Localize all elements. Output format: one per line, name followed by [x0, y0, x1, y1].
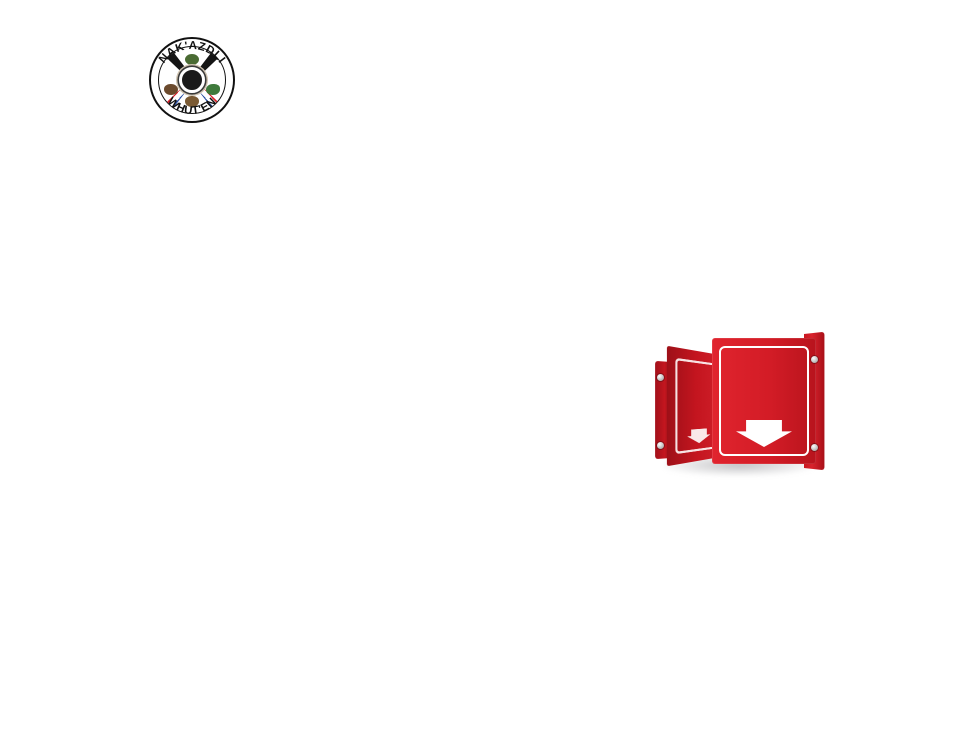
logo-bottom-arc-label: WHUT'EN	[165, 95, 219, 117]
list-item	[68, 412, 668, 443]
sign-screw-top-right	[811, 356, 818, 363]
emergency-evacuation-map-sign-image	[654, 334, 826, 476]
list-item	[68, 600, 668, 631]
list-item	[68, 475, 668, 506]
sign-screw-bottom-right	[811, 444, 818, 451]
nakazdli-whuten-logo: NAK'AZDLI WHUT'EN	[149, 37, 235, 123]
letterhead-header: NAK'AZDLI WHUT'EN	[0, 0, 960, 150]
list-item	[68, 537, 668, 568]
list-item	[68, 444, 668, 475]
list-item	[68, 350, 668, 381]
sign-screw-top-left	[657, 374, 664, 381]
directions-list	[68, 350, 668, 631]
sign-front-panel	[712, 338, 816, 464]
logo-top-arc-label: NAK'AZDLI	[157, 40, 228, 66]
sign-screw-bottom-left	[657, 442, 664, 449]
list-item	[68, 381, 668, 412]
logo-arc-text: NAK'AZDLI WHUT'EN	[149, 37, 235, 123]
list-item	[68, 506, 668, 537]
list-item	[68, 568, 668, 599]
